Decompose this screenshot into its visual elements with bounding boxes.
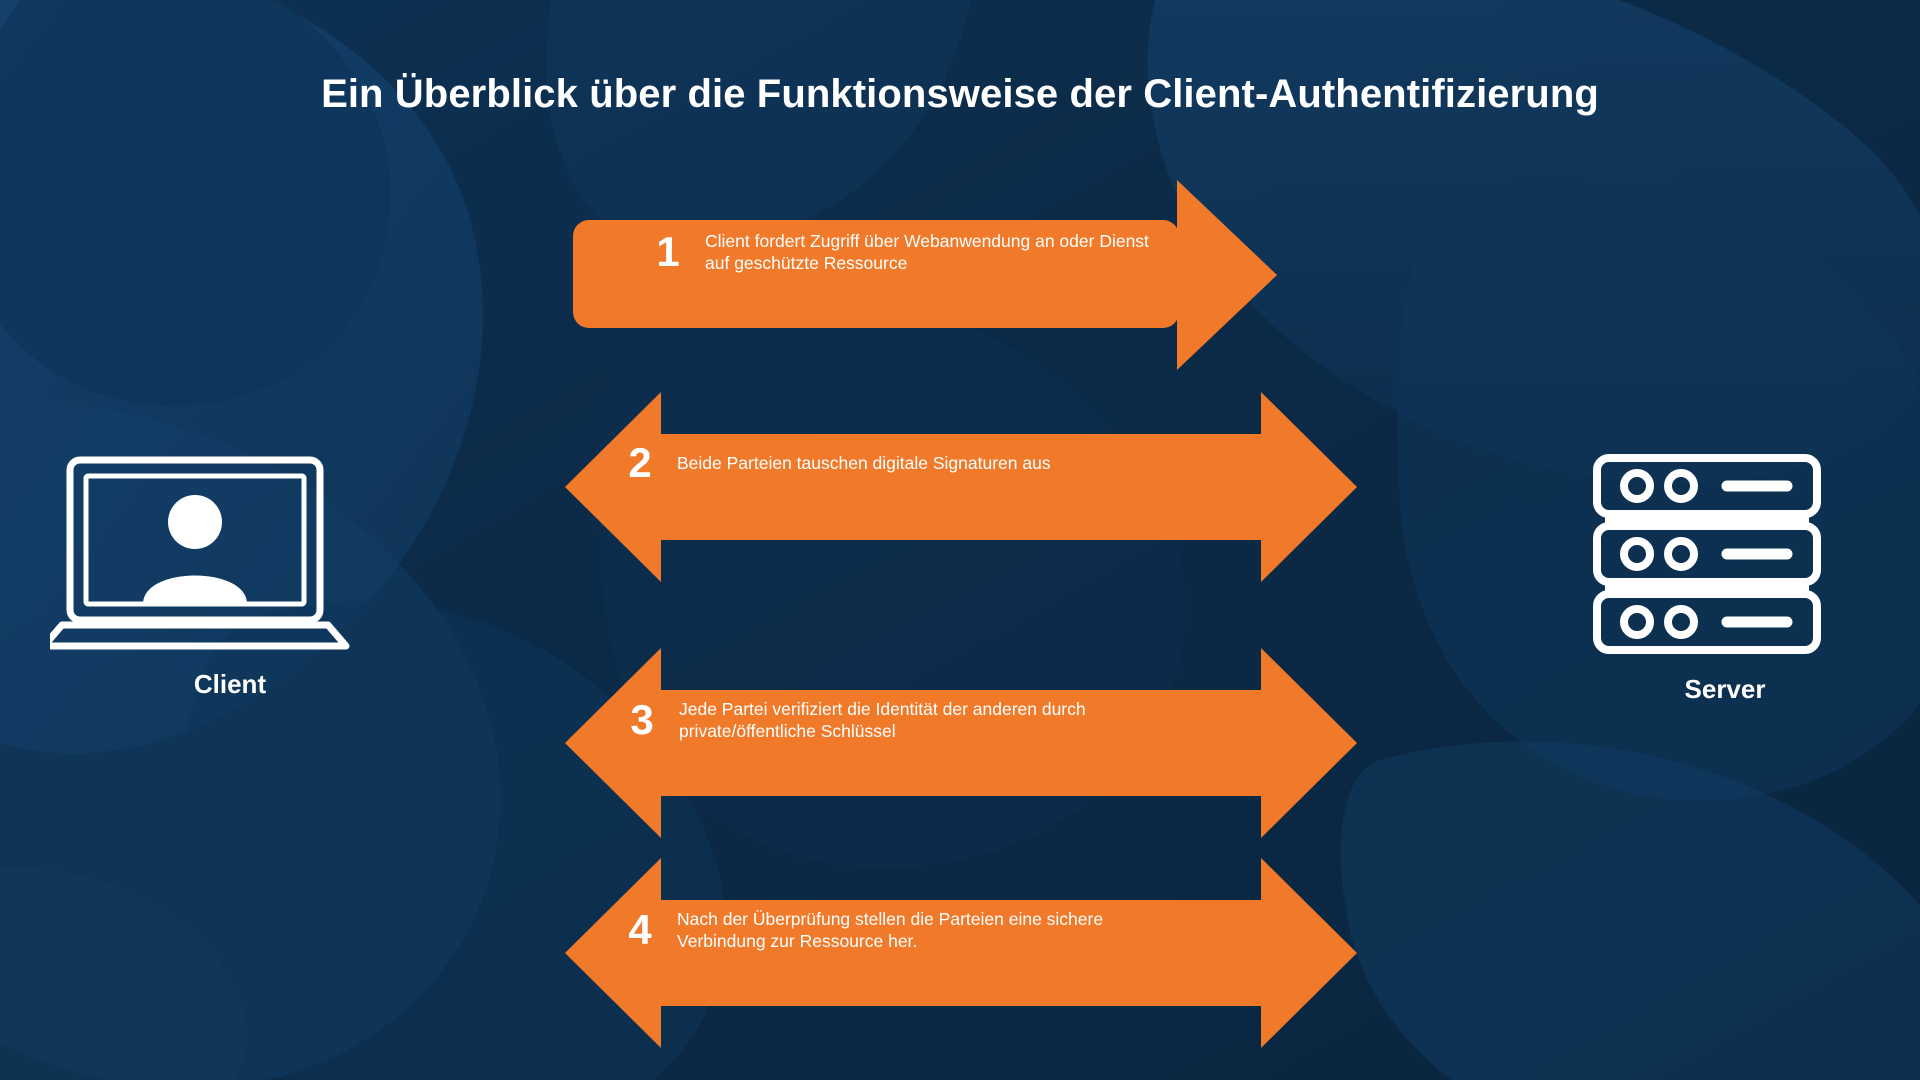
step-arrow-2: 2 Beide Parteien tauschen digitale Signa… xyxy=(565,392,1395,582)
infographic-canvas: Ein Überblick über die Funktionsweise de… xyxy=(0,0,1920,1080)
laptop-user-icon xyxy=(50,450,410,650)
arrow-bidirectional-icon xyxy=(565,858,1395,1048)
arrow-right-icon xyxy=(565,180,1395,370)
arrow-bidirectional-icon xyxy=(565,392,1395,582)
client-label: Client xyxy=(50,669,410,700)
arrow-bidirectional-icon xyxy=(565,648,1395,838)
server-rack-icon xyxy=(1575,450,1875,655)
page-title: Ein Überblick über die Funktionsweise de… xyxy=(0,72,1920,117)
server-label: Server xyxy=(1560,674,1890,705)
step-arrow-1: 1 Client fordert Zugriff über Webanwendu… xyxy=(565,180,1395,370)
client-endpoint: Client xyxy=(50,450,410,700)
step-arrow-4: 4 Nach der Überprüfung stellen die Parte… xyxy=(565,858,1395,1048)
step-arrow-3: 3 Jede Partei verifiziert die Identität … xyxy=(565,648,1395,838)
server-endpoint: Server xyxy=(1560,450,1890,705)
